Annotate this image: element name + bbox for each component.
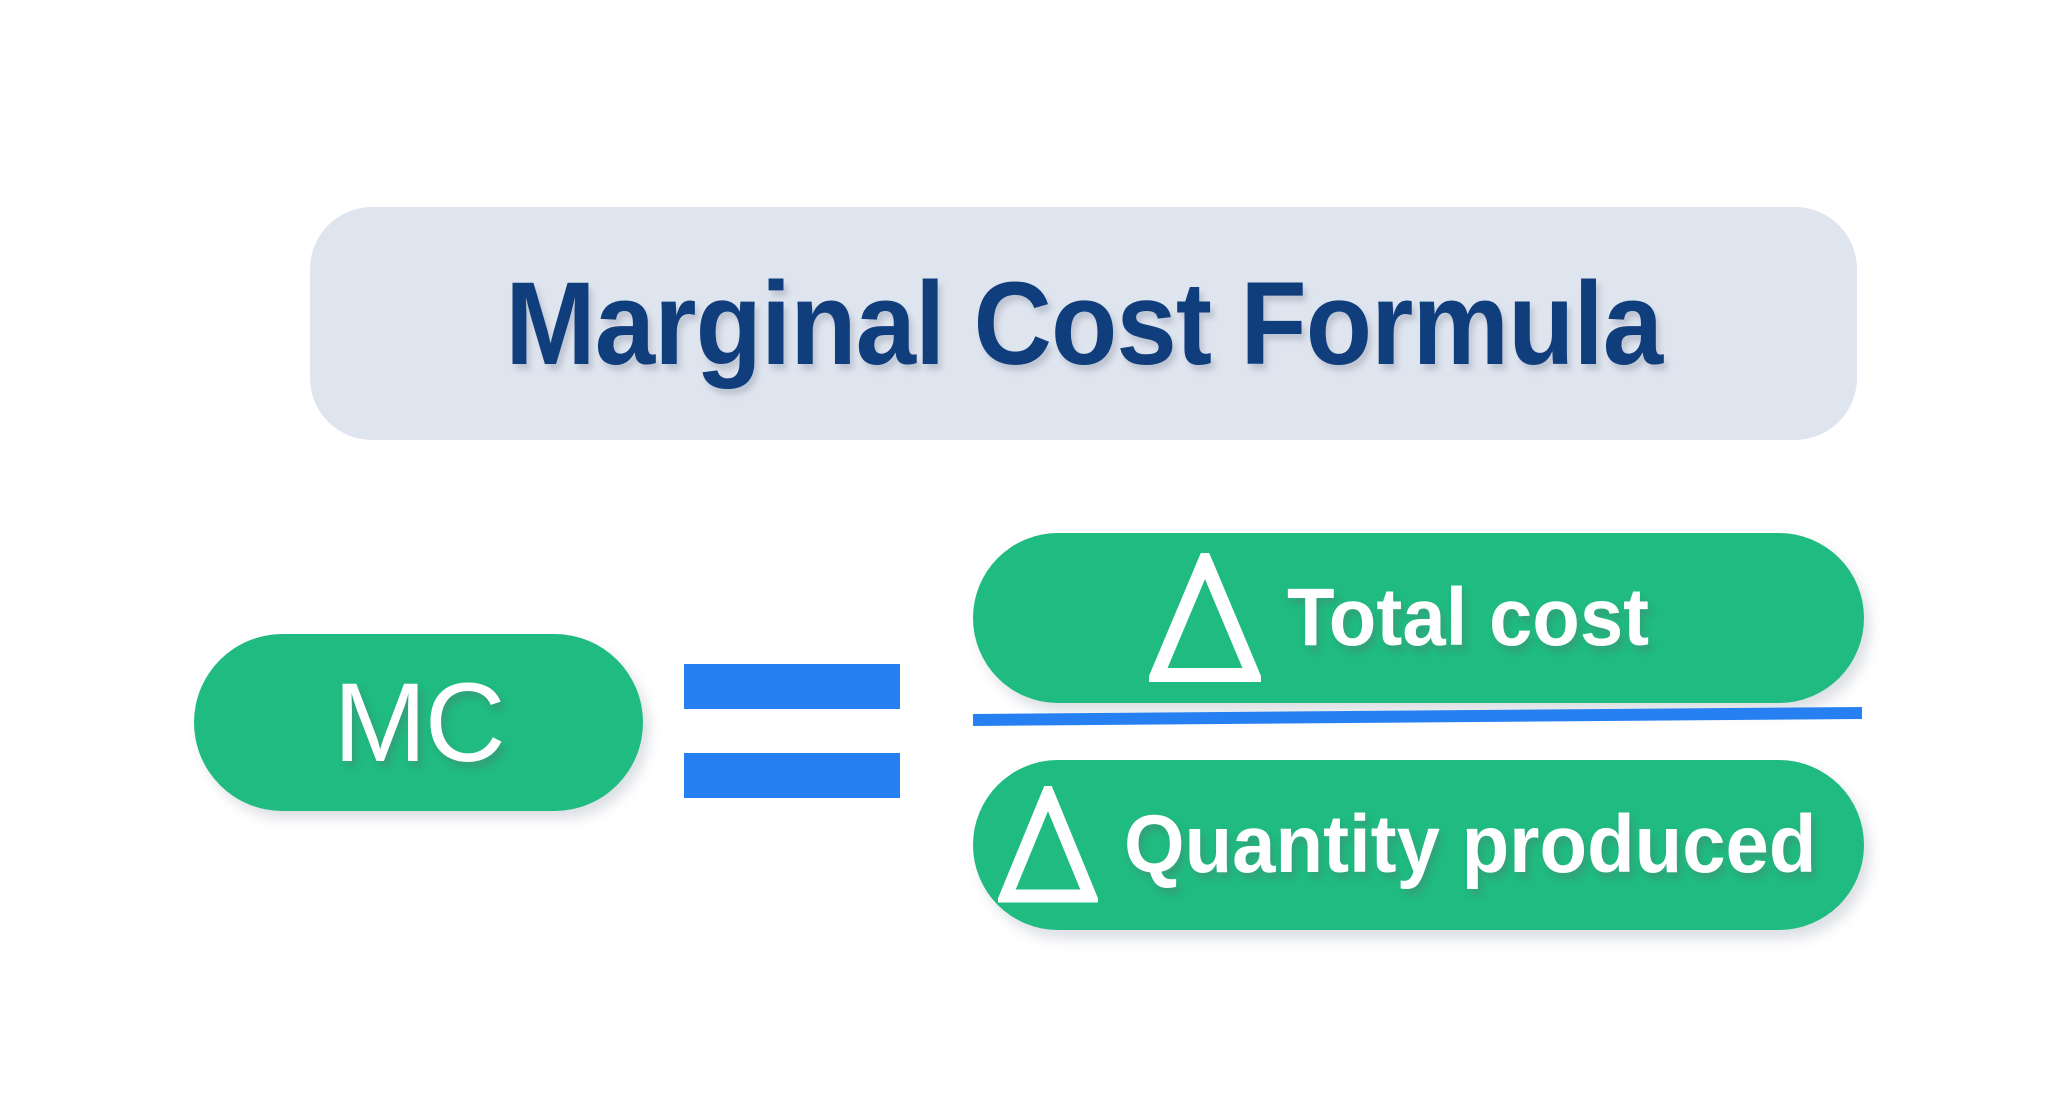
mc-pill: MC: [194, 634, 643, 811]
delta-triangle-icon: [1149, 553, 1261, 683]
numerator-pill: Total cost: [973, 533, 1864, 703]
formula-infographic: Marginal Cost Formula MC Total cost: [0, 0, 2061, 1097]
equals-bar-bottom: [684, 753, 900, 798]
marginal-cost-formula: MC Total cost Quantity produced: [0, 0, 2061, 1097]
delta-triangle-icon: [998, 786, 1098, 904]
fraction-group: Total cost Quantity produced: [973, 533, 1864, 930]
denominator-pill: Quantity produced: [973, 760, 1864, 930]
numerator-label: Total cost: [1287, 577, 1649, 659]
mc-label: MC: [333, 667, 503, 779]
equals-bar-top: [684, 664, 900, 709]
denominator-label: Quantity produced: [1124, 804, 1816, 886]
